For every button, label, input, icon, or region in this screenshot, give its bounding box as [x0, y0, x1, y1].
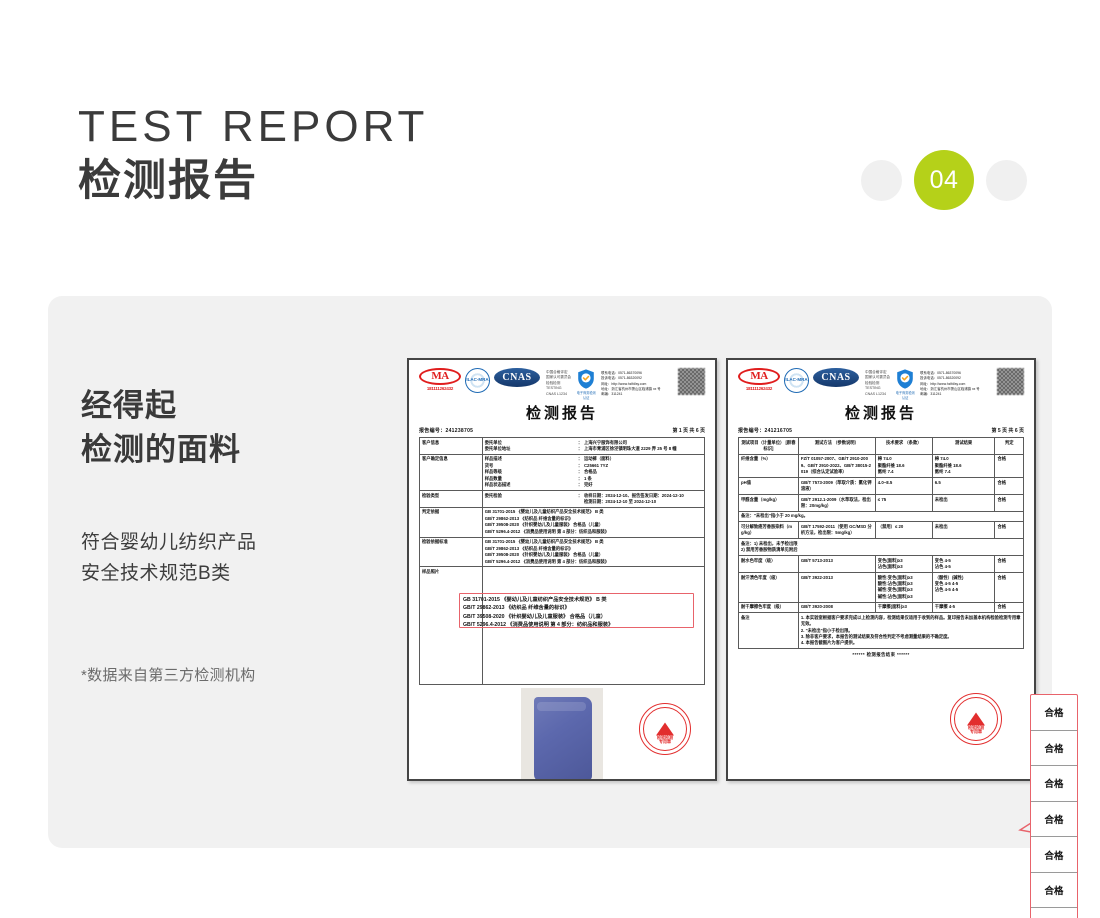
verdict-badge: 合格 — [1031, 837, 1077, 873]
doc2-cell-method: GB/T 3922-2013 — [798, 573, 875, 603]
doc1-row-label: 判定依据 — [420, 507, 483, 537]
seal-line-1: 专用章 — [640, 740, 690, 745]
doc1-row-label: 客户确定信息 — [420, 454, 483, 490]
page-title-cn: 检测报告 — [78, 155, 428, 209]
doc2-cell-method: GB/T 3920-2008 — [798, 602, 875, 612]
table-row: 客户确定信息样品描述：运动裤（面料）货号：C25661 7YZ样品等级：合格品样… — [420, 454, 705, 490]
doc2-cell-verdict: 合格 — [995, 495, 1024, 512]
source-footnote: *数据来自第三方检测机构 — [81, 664, 381, 685]
table-row: pH值GB/T 7573-2009（萃取介质：氯化钾溶液）4.0~8.56.5合… — [739, 478, 1024, 495]
verdict-badge: 合格 — [1031, 695, 1077, 731]
field-key — [485, 499, 576, 505]
remark-line-0: 1. 本实验室根据客户要求完成以上检测内容，检测结果仅适用于收到的样品。复印报告… — [801, 615, 1021, 628]
standard-line: GB/T 5296.4-2012 《消费品使用说明 第 4 部分：纺织品和服装》 — [485, 529, 702, 535]
doc2-cell-result: 棉 74.0 聚酯纤维 18.6 氨纶 7.4 — [932, 454, 995, 477]
doc2-cell-item: 纤维含量（%） — [739, 454, 799, 477]
doc2-cell-requirement: ≤ 75 — [875, 495, 932, 512]
doc2-cell-method: GB/T 5713-2013 — [798, 556, 875, 573]
doc1-row-label: 检验类型 — [420, 491, 483, 508]
doc2-cell-method: GB/T 2912.1-2009（水萃取法，检出限：20mg/kg） — [798, 495, 875, 512]
doc2-results-table: 测试项目（计量单位） [群春标识]测试方法 （参数说明）技术要求 （条款）测试结… — [738, 437, 1024, 649]
report-document-2[interactable]: MA 181111262432 ILAC-MRA CNAS 中国合格评定国家认可… — [726, 358, 1036, 781]
doc2-row-note: 备注：1) 未检出，未予检出限 2) 禁用芳香胺物质清单见附后 — [739, 539, 1024, 556]
compliance-line-2: 安全技术规范B类 — [81, 559, 381, 590]
ecommerce-shield-icon: 电子商务检测认证 — [575, 368, 597, 393]
folded-fabric-image — [534, 697, 592, 781]
cnas-accreditation-text: 中国合格评定国家认可委员会检验检测TESTINGCNAS L1234 — [546, 368, 571, 397]
table-row: 备注："未检出"指小于 20 mg/kg。 — [739, 511, 1024, 521]
cnas-oval-label: CNAS — [494, 368, 540, 387]
doc2-cell-verdict: 合格 — [995, 556, 1024, 573]
doc2-cell-requirement: 变色(面料)≥3 沾色(面料)≥3 — [875, 556, 932, 573]
ilac-mra-icon: ILAC-MRA — [465, 368, 490, 393]
table-row: 耐汗渍色牢度（级）GB/T 3922-2013酸性:变色(面料)≥3 酸性:沾色… — [739, 573, 1024, 603]
standard-line: GB/T 5296.4-2012 《消费品使用说明 第 4 部分：纺织品和服装》 — [485, 559, 702, 565]
page-title-en: TEST REPORT — [78, 103, 428, 151]
verdict-badge: 合格 — [1031, 873, 1077, 909]
doc2-cell-method: FZ/T 01057-2007、GB/T 2910-2009、GB/T 2910… — [798, 454, 875, 477]
callout-pointer — [1018, 823, 1031, 839]
doc2-cell-item: pH值 — [739, 478, 799, 495]
cma-oval-label: MA — [419, 368, 461, 385]
doc1-row-content: 样品描述：运动裤（面料）货号：C25661 7YZ样品等级：合格品样品数量：1 … — [482, 454, 704, 490]
lab-contact-info: 联系电话：0571-86370096投诉电话：0571-86320092网址：h… — [601, 368, 661, 397]
lead-line-2: 检测的面料 — [81, 428, 381, 472]
shield-caption-2: 电子商务检测认证 — [894, 390, 916, 400]
cnas-accreditation-text-2: 中国合格评定国家认可委员会检验检测TESTINGCNAS L1234 — [865, 368, 890, 397]
cnas-line-4: CNAS L1234 — [546, 392, 571, 397]
doc1-info-table: 客户信息委托单位：上海兴宁服饰有限公司委托单位地址：上海市青浦区徐泾镇明珠大道 … — [419, 437, 705, 685]
table-row: 备注：1) 未检出，未予检出限 2) 禁用芳香胺物质清单见附后 — [739, 539, 1024, 556]
step-number-badge: 04 — [914, 150, 974, 210]
doc2-col-header: 技术要求 （条款） — [875, 438, 932, 455]
doc2-cell-result: （酸性）(碱性) 变色 4-5 4-5 沾色 4-5 4-5 — [932, 573, 995, 603]
table-row: 备注1. 本实验室根据客户要求完成以上检测内容，检测结果仅适用于收到的样品。复印… — [739, 613, 1024, 649]
doc1-row-content: 委托检验：收样日期：2024-12-10、报告签发日期：2024-12-10检测… — [482, 491, 704, 508]
doc2-cell-result: 变色 4-5 沾色 4-5 — [932, 556, 995, 573]
cma-certificate-number-2: 181111262432 — [746, 386, 772, 391]
doc2-cell-item: 甲醛含量（mg/kg） — [739, 495, 799, 512]
field-colon: ： — [578, 446, 582, 452]
accreditation-logo-row-2: MA 181111262432 ILAC-MRA CNAS 中国合格评定国家认可… — [738, 368, 1024, 398]
doc2-cell-requirement: 4.0~8.5 — [875, 478, 932, 495]
table-row: 检验依据标准GB 31701-2015 《婴幼儿及儿童纺织产品安全技术规范》 B… — [420, 537, 705, 567]
doc2-col-header: 测试项目（计量单位） [群春标识] — [739, 438, 799, 455]
cnas-oval-label-2: CNAS — [813, 368, 859, 387]
doc2-col-header: 判定 — [995, 438, 1024, 455]
verdict-badge: 合格 — [1031, 802, 1077, 838]
cma-logo-2: MA 181111262432 — [738, 368, 780, 391]
doc2-col-header: 测试结果 — [932, 438, 995, 455]
shield-caption: 电子商务检测认证 — [575, 390, 597, 400]
lab-contact-info-2: 联系电话：0571-86370096投诉电话：0571-86320092网址：h… — [920, 368, 980, 397]
doc2-page-info: 第 5 页 共 6 页 — [991, 427, 1024, 434]
doc2-cell-verdict: 合格 — [995, 478, 1024, 495]
sample-photo-cell — [482, 567, 704, 685]
doc2-end-mark: ****** 检测报告结束 ****** — [738, 652, 1024, 658]
seal-line-1: 专用章 — [951, 730, 1001, 735]
doc2-cell-method: GB/T 17592-2011（使用 GC/MSD 分析方法，检出限：5mg/k… — [798, 522, 875, 539]
doc1-field: 委托单位地址：上海市青浦区徐泾镇明珠大道 2229 弄 25 号 8 幢 — [485, 446, 702, 452]
doc2-cell-verdict: 合格 — [995, 602, 1024, 612]
cnas-line-4: CNAS L1234 — [865, 392, 890, 397]
cma-oval-label-2: MA — [738, 368, 780, 385]
doc1-row-content: 委托单位：上海兴宁服饰有限公司委托单位地址：上海市青浦区徐泾镇明珠大道 2229… — [482, 438, 704, 455]
cma-logo: MA 181111262432 — [419, 368, 461, 391]
doc2-cell-method: GB/T 7573-2009（萃取介质：氯化钾溶液） — [798, 478, 875, 495]
seal-text-doc2: 检验检测专用章 — [951, 726, 1001, 735]
verdict-badge: 合格 — [1031, 908, 1077, 918]
doc2-cell-item: 耐汗渍色牢度（级） — [739, 573, 799, 603]
step-dot-left — [861, 160, 902, 201]
doc1-field: 检测日期：2024-12-10 至 2024-12-10 — [485, 499, 702, 505]
doc2-col-header: 测试方法 （参数说明） — [798, 438, 875, 455]
contact-line-4: 邮编：311241 — [601, 392, 661, 397]
doc2-row-note: 备注："未检出"指小于 20 mg/kg。 — [739, 511, 1024, 521]
doc1-row-content: GB 31701-2015 《婴幼儿及儿童纺织产品安全技术规范》 B 类GB/T… — [482, 507, 704, 537]
lead-line-1: 经得起 — [81, 384, 381, 428]
cnas-line-1: 国家认可委员会 — [546, 375, 571, 380]
doc2-cell-requirement: 棉 74.0 聚酯纤维 18.6 氨纶 7.4 — [875, 454, 932, 477]
doc1-field: 样品状态描述：完好 — [485, 482, 702, 488]
field-value: 完好 — [584, 482, 593, 488]
table-row: 客户信息委托单位：上海兴宁服饰有限公司委托单位地址：上海市青浦区徐泾镇明珠大道 … — [420, 438, 705, 455]
verdict-callout: 合格合格合格合格合格合格合格 — [1030, 694, 1078, 918]
doc2-cell-verdict: 合格 — [995, 573, 1024, 603]
sample-photo — [521, 688, 603, 781]
doc2-cell-result: 干摩擦 4-5 — [932, 602, 995, 612]
ilac-mra-label: ILAC-MRA — [466, 377, 489, 382]
accreditation-logo-row: MA 181111262432 ILAC-MRA CNAS 中国合格评定国家认可… — [419, 368, 705, 398]
cnas-logo-2: CNAS — [813, 368, 859, 387]
doc1-row-label: 检验依据标准 — [420, 537, 483, 567]
doc1-title: 检测报告 — [419, 402, 705, 423]
table-row: 判定依据GB 31701-2015 《婴幼儿及儿童纺织产品安全技术规范》 B 类… — [420, 507, 705, 537]
qr-code-icon-2[interactable] — [997, 368, 1024, 395]
doc2-cell-verdict: 合格 — [995, 454, 1024, 477]
field-colon: ： — [578, 482, 582, 488]
doc1-row-label: 客户信息 — [420, 438, 483, 455]
field-value: 检测日期：2024-12-10 至 2024-12-10 — [584, 499, 656, 505]
step-indicator: 04 — [861, 150, 1027, 210]
ilac-mra-label-2: ILAC-MRA — [785, 377, 808, 382]
table-row: 耐水色牢度（级）GB/T 5713-2013变色(面料)≥3 沾色(面料)≥3变… — [739, 556, 1024, 573]
doc1-report-number: 报告编号：241238705 — [419, 427, 473, 434]
doc2-remark-label: 备注 — [739, 613, 799, 649]
doc2-cell-requirement: （禁用）≤ 20 — [875, 522, 932, 539]
doc1-row-content: GB 31701-2015 《婴幼儿及儿童纺织产品安全技术规范》 B 类GB/T… — [482, 537, 704, 567]
table-row: 样品照片 — [420, 567, 705, 685]
doc2-cell-result: 未检出 — [932, 522, 995, 539]
report-document-1[interactable]: MA 181111262432 ILAC-MRA CNAS 中国合格评定国家认可… — [407, 358, 717, 781]
ilac-mra-icon-2: ILAC-MRA — [784, 368, 809, 393]
content-panel: 经得起 检测的面料 符合婴幼儿纺织产品 安全技术规范B类 *数据来自第三方检测机… — [48, 296, 1052, 848]
qr-code-icon[interactable] — [678, 368, 705, 395]
doc1-page-info: 第 1 页 共 6 页 — [672, 427, 705, 434]
table-row: 检验类型委托检验：收样日期：2024-12-10、报告签发日期：2024-12-… — [420, 491, 705, 508]
cma-certificate-number: 181111262432 — [427, 386, 453, 391]
doc2-cell-result: 未检出 — [932, 495, 995, 512]
doc2-cell-item: 耐干摩擦色牢度（级） — [739, 602, 799, 612]
doc2-remark-content: 1. 本实验室根据客户要求完成以上检测内容，检测结果仅适用于收到的样品。复印报告… — [798, 613, 1023, 649]
doc2-cell-requirement: 酸性:变色(面料)≥3 酸性:沾色(面料)≥3 碱性:变色(面料)≥3 碱性:沾… — [875, 573, 932, 603]
official-seal-stamp-doc1: 检验检测专用章 — [639, 703, 691, 755]
table-row: 甲醛含量（mg/kg）GB/T 2912.1-2009（水萃取法，检出限：20m… — [739, 495, 1024, 512]
ecommerce-shield-icon-2: 电子商务检测认证 — [894, 368, 916, 393]
doc2-meta: 报告编号：241216705 第 5 页 共 6 页 — [738, 427, 1024, 434]
doc1-meta: 报告编号：241238705 第 1 页 共 6 页 — [419, 427, 705, 434]
remark-line-3: 4. 本报告截图片为客户提供。 — [801, 640, 1021, 646]
verdict-badge: 合格 — [1031, 766, 1077, 802]
field-value: 上海市青浦区徐泾镇明珠大道 2229 弄 25 号 8 幢 — [584, 446, 677, 452]
doc2-cell-result: 6.5 — [932, 478, 995, 495]
cnas-logo: CNAS — [494, 368, 540, 387]
left-text-column: 经得起 检测的面料 符合婴幼儿纺织产品 安全技术规范B类 *数据来自第三方检测机… — [81, 384, 381, 685]
compliance-line-1: 符合婴幼儿纺织产品 — [81, 528, 381, 559]
compliance-text: 符合婴幼儿纺织产品 安全技术规范B类 — [81, 528, 381, 590]
table-row: 耐干摩擦色牢度（级）GB/T 3920-2008干摩擦(面料)≥3干摩擦 4-5… — [739, 602, 1024, 612]
field-key: 委托单位地址 — [485, 446, 576, 452]
doc2-cell-requirement: 干摩擦(面料)≥3 — [875, 602, 932, 612]
cnas-line-1: 国家认可委员会 — [865, 375, 890, 380]
doc2-cell-verdict: 合格 — [995, 522, 1024, 539]
step-dot-right — [986, 160, 1027, 201]
table-row: 可分解致癌芳香胺染料（mg/kg）GB/T 17592-2011（使用 GC/M… — [739, 522, 1024, 539]
doc2-report-number: 报告编号：241216705 — [738, 427, 792, 434]
doc1-row-label: 样品照片 — [420, 567, 483, 685]
doc2-cell-item: 可分解致癌芳香胺染料（mg/kg） — [739, 522, 799, 539]
doc2-title: 检测报告 — [738, 402, 1024, 423]
test-report-page: TEST REPORT 检测报告 04 经得起 检测的面料 符合婴幼儿纺织产品 … — [0, 0, 1100, 918]
field-key: 样品状态描述 — [485, 482, 576, 488]
seal-text-doc1: 检验检测专用章 — [640, 736, 690, 745]
contact-line-4: 邮编：311241 — [920, 392, 980, 397]
official-seal-stamp-doc2: 检验检测专用章 — [950, 693, 1002, 745]
doc2-cell-item: 耐水色牢度（级） — [739, 556, 799, 573]
verdict-badge: 合格 — [1031, 731, 1077, 767]
page-header: TEST REPORT 检测报告 — [78, 103, 428, 208]
table-row: 纤维含量（%）FZ/T 01057-2007、GB/T 2910-2009、GB… — [739, 454, 1024, 477]
lead-headline: 经得起 检测的面料 — [81, 384, 381, 472]
field-colon — [578, 499, 582, 505]
